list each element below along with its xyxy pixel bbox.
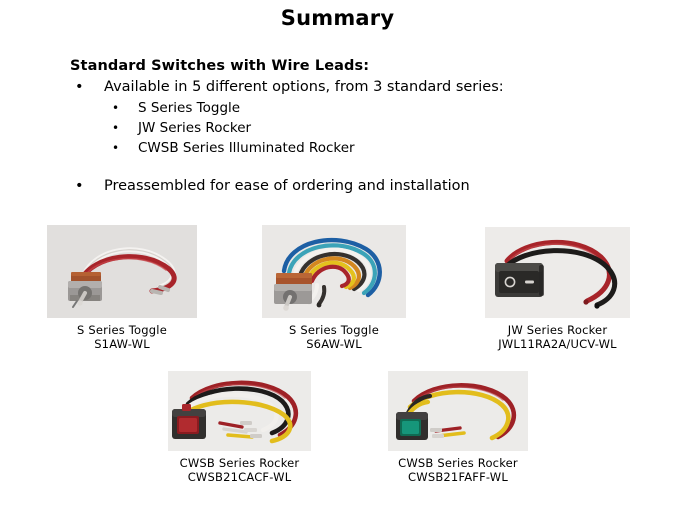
product-series-label: CWSB Series Rocker bbox=[168, 456, 311, 470]
bullet-text: S Series Toggle bbox=[138, 100, 240, 116]
product-part-number: CWSB21FAFF-WL bbox=[388, 470, 528, 484]
page-title: Summary bbox=[0, 6, 675, 30]
jw-series-rocker-photo bbox=[485, 227, 630, 318]
section-heading: Standard Switches with Wire Leads: bbox=[70, 58, 650, 74]
product-part-number: S6AW-WL bbox=[262, 337, 406, 351]
product-photo-art bbox=[388, 371, 528, 451]
product-card-cwsb21cacf-wl: CWSB Series Rocker CWSB21CACF-WL bbox=[168, 371, 311, 484]
product-card-s1aw-wl: S Series Toggle S1AW-WL bbox=[47, 225, 197, 351]
product-series-label: S Series Toggle bbox=[47, 323, 197, 337]
bullet-item-3: • CWSB Series Illuminated Rocker bbox=[70, 138, 650, 158]
bullet-item-2: • JW Series Rocker bbox=[70, 118, 650, 138]
cwsb-series-rocker-cwsb21faff-wl-photo bbox=[388, 371, 528, 451]
bullet-marker-icon: • bbox=[75, 176, 84, 197]
product-caption: CWSB Series Rocker CWSB21FAFF-WL bbox=[388, 456, 528, 484]
product-photo-art bbox=[168, 371, 311, 451]
slide-canvas: Summary Standard Switches with Wire Lead… bbox=[0, 0, 675, 506]
product-caption: S Series Toggle S6AW-WL bbox=[262, 323, 406, 351]
bullet-marker-icon: • bbox=[112, 138, 119, 158]
bullet-text: JW Series Rocker bbox=[138, 120, 251, 136]
product-series-label: S Series Toggle bbox=[262, 323, 406, 337]
bullet-text: Available in 5 different options, from 3… bbox=[104, 79, 504, 95]
bullet-marker-icon: • bbox=[112, 118, 119, 138]
product-card-s6aw-wl: S Series Toggle S6AW-WL bbox=[262, 225, 406, 351]
bullet-item-0: • Available in 5 different options, from… bbox=[70, 77, 650, 98]
bullet-marker-icon: • bbox=[75, 77, 84, 98]
bullet-spacer bbox=[70, 158, 650, 174]
product-part-number: JWL11RA2A/UCV-WL bbox=[485, 337, 630, 351]
body-text-block: Standard Switches with Wire Leads: • Ava… bbox=[70, 58, 650, 197]
product-series-label: JW Series Rocker bbox=[485, 323, 630, 337]
bullet-text: Preassembled for ease of ordering and in… bbox=[104, 178, 470, 194]
s-series-toggle-s1aw-wl-photo bbox=[47, 225, 197, 318]
product-caption: JW Series Rocker JWL11RA2A/UCV-WL bbox=[485, 323, 630, 351]
product-photo-art bbox=[485, 227, 630, 318]
product-part-number: CWSB21CACF-WL bbox=[168, 470, 311, 484]
product-photo-art bbox=[47, 225, 197, 318]
s-series-toggle-s6aw-wl-photo bbox=[262, 225, 406, 318]
product-photo-art bbox=[262, 225, 406, 318]
product-card-jwl11ra2a: JW Series Rocker JWL11RA2A/UCV-WL bbox=[485, 227, 630, 351]
bullet-item-1: • S Series Toggle bbox=[70, 98, 650, 118]
product-caption: S Series Toggle S1AW-WL bbox=[47, 323, 197, 351]
product-card-cwsb21faff-wl: CWSB Series Rocker CWSB21FAFF-WL bbox=[388, 371, 528, 484]
product-part-number: S1AW-WL bbox=[47, 337, 197, 351]
bullet-marker-icon: • bbox=[112, 98, 119, 118]
bullet-item-4: • Preassembled for ease of ordering and … bbox=[70, 176, 650, 197]
product-caption: CWSB Series Rocker CWSB21CACF-WL bbox=[168, 456, 311, 484]
cwsb-series-rocker-cwsb21cacf-wl-photo bbox=[168, 371, 311, 451]
product-series-label: CWSB Series Rocker bbox=[388, 456, 528, 470]
bullet-text: CWSB Series Illuminated Rocker bbox=[138, 140, 355, 156]
